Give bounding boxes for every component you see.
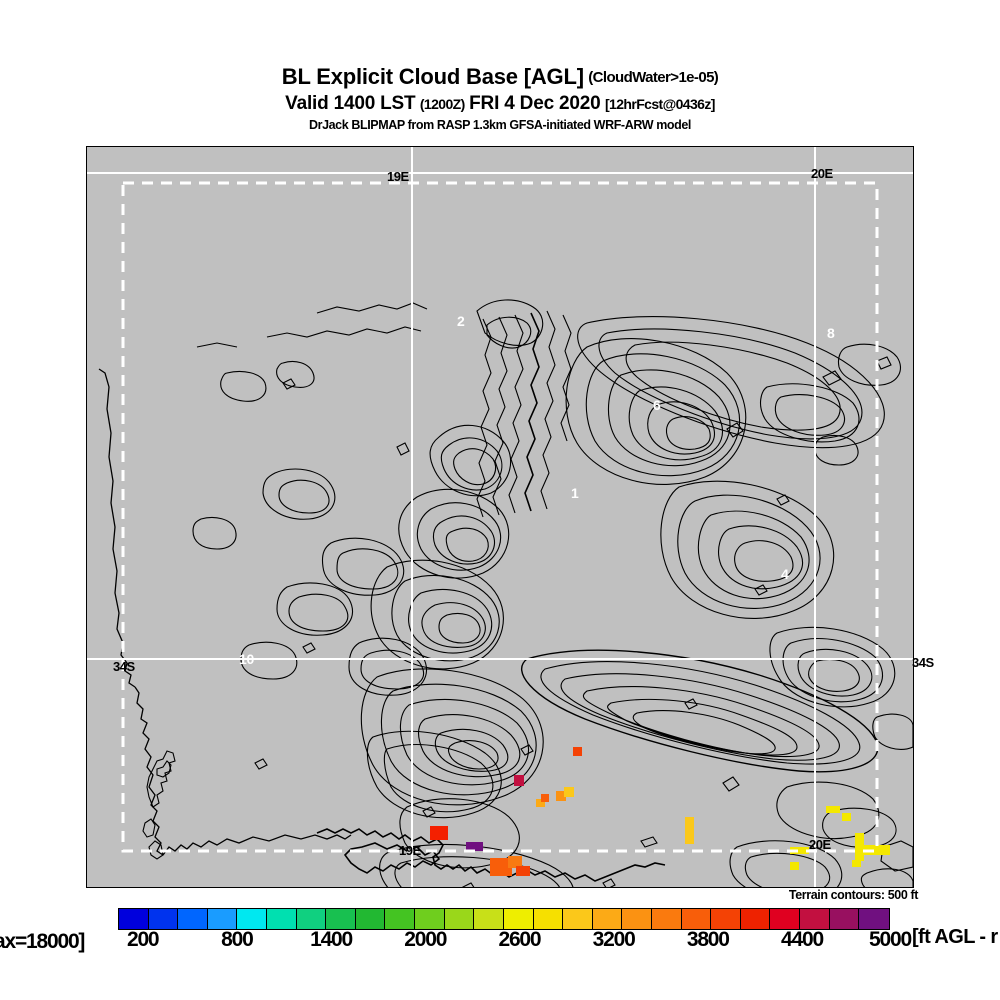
colorbar-swatch[interactable] [177, 909, 208, 929]
forecast-hour: [12hrFcst@0436z] [605, 96, 715, 112]
colorbar-swatch[interactable] [355, 909, 386, 929]
colorbar-swatch[interactable] [562, 909, 593, 929]
colorbar-swatch[interactable] [829, 909, 860, 929]
colorbar-swatch[interactable] [266, 909, 297, 929]
graticule-label: 19E [399, 843, 421, 858]
title-condition: (CloudWater>1e-05) [588, 69, 718, 86]
map-canvas [87, 147, 913, 887]
colorbar-tick: 2600 [498, 928, 540, 952]
cloud-base-cell [842, 813, 851, 821]
cloud-base-cell [514, 775, 524, 786]
colorbar-tick: 3200 [593, 928, 635, 952]
region-number-label: 2 [457, 313, 465, 329]
cloud-base-cell [564, 787, 574, 797]
colorbar-tick: 800 [221, 928, 252, 952]
colorbar-swatch[interactable] [444, 909, 475, 929]
model-source: DrJack BLIPMAP from RASP 1.3km GFSA-init… [0, 118, 1000, 132]
colorbar-tick: 3800 [687, 928, 729, 952]
colorbar-swatch[interactable] [681, 909, 712, 929]
cloud-base-cell [430, 826, 448, 840]
terrain-contour-note: Terrain contours: 500 ft [789, 888, 918, 902]
cloud-base-cell [541, 794, 549, 802]
forecast-map[interactable]: 19E20E19E20E34S34S 2681410 [86, 146, 914, 888]
colorbar-swatch[interactable] [769, 909, 800, 929]
axis-label-lat-right: 34S [912, 655, 934, 670]
colorbar-swatch[interactable] [533, 909, 564, 929]
region-number-label: 10 [239, 651, 254, 667]
colorbar-swatch[interactable] [740, 909, 771, 929]
colorbar-swatch[interactable] [207, 909, 238, 929]
colorbar-swatch[interactable] [710, 909, 741, 929]
title-block: BL Explicit Cloud Base [AGL] (CloudWater… [0, 0, 1000, 132]
graticule-label: 34S [113, 659, 135, 674]
valid-time: Valid 1400 LST [285, 93, 415, 114]
valid-time-utc: (1200Z) [420, 96, 465, 112]
colorbar-max-label: ax=18000] [0, 930, 84, 954]
region-number-label: 1 [571, 485, 579, 501]
title-line-valid: Valid 1400 LST (1200Z) FRI 4 Dec 2020 [1… [0, 93, 1000, 115]
colorbar-swatch[interactable] [799, 909, 830, 929]
colorbar-tick: 5000 [869, 928, 911, 952]
cloud-base-cell [826, 806, 840, 813]
colorbar-swatch[interactable] [296, 909, 327, 929]
colorbar-tick: 2000 [404, 928, 446, 952]
cloud-base-cell [790, 862, 799, 870]
colorbar-swatch[interactable] [236, 909, 267, 929]
colorbar-swatch[interactable] [592, 909, 623, 929]
title-line-primary: BL Explicit Cloud Base [AGL] (CloudWater… [0, 66, 1000, 91]
colorbar-swatch[interactable] [858, 909, 889, 929]
colorbar-tick: 4400 [781, 928, 823, 952]
colorbar-swatch[interactable] [384, 909, 415, 929]
colorbar-tick: 200 [127, 928, 158, 952]
graticule-label: 20E [811, 166, 833, 181]
colorbar-tick-labels: 2008001400200026003200380044005000 [118, 928, 890, 954]
valid-date: FRI 4 Dec 2020 [469, 93, 600, 114]
colorbar-swatch[interactable] [414, 909, 445, 929]
colorbar-units-label: [ft AGL - r [912, 926, 998, 949]
colorbar[interactable] [118, 908, 890, 930]
region-number-label: 8 [827, 325, 835, 341]
region-number-label: 6 [653, 397, 661, 413]
page-title: BL Explicit Cloud Base [AGL] [282, 64, 584, 89]
colorbar-swatch[interactable] [325, 909, 356, 929]
colorbar-swatch[interactable] [651, 909, 682, 929]
colorbar-swatch[interactable] [473, 909, 504, 929]
cloud-base-cell [685, 817, 694, 844]
colorbar-swatch[interactable] [119, 909, 149, 929]
graticule-label: 20E [809, 837, 831, 852]
graticule-label: 19E [387, 169, 409, 184]
colorbar-tick: 1400 [310, 928, 352, 952]
colorbar-swatch[interactable] [621, 909, 652, 929]
colorbar-swatch[interactable] [503, 909, 534, 929]
colorbar-swatch[interactable] [148, 909, 179, 929]
cloud-base-cell [852, 860, 861, 867]
cloud-base-cell [573, 747, 582, 756]
region-number-label: 4 [781, 566, 789, 582]
cloud-base-cell [516, 866, 530, 876]
